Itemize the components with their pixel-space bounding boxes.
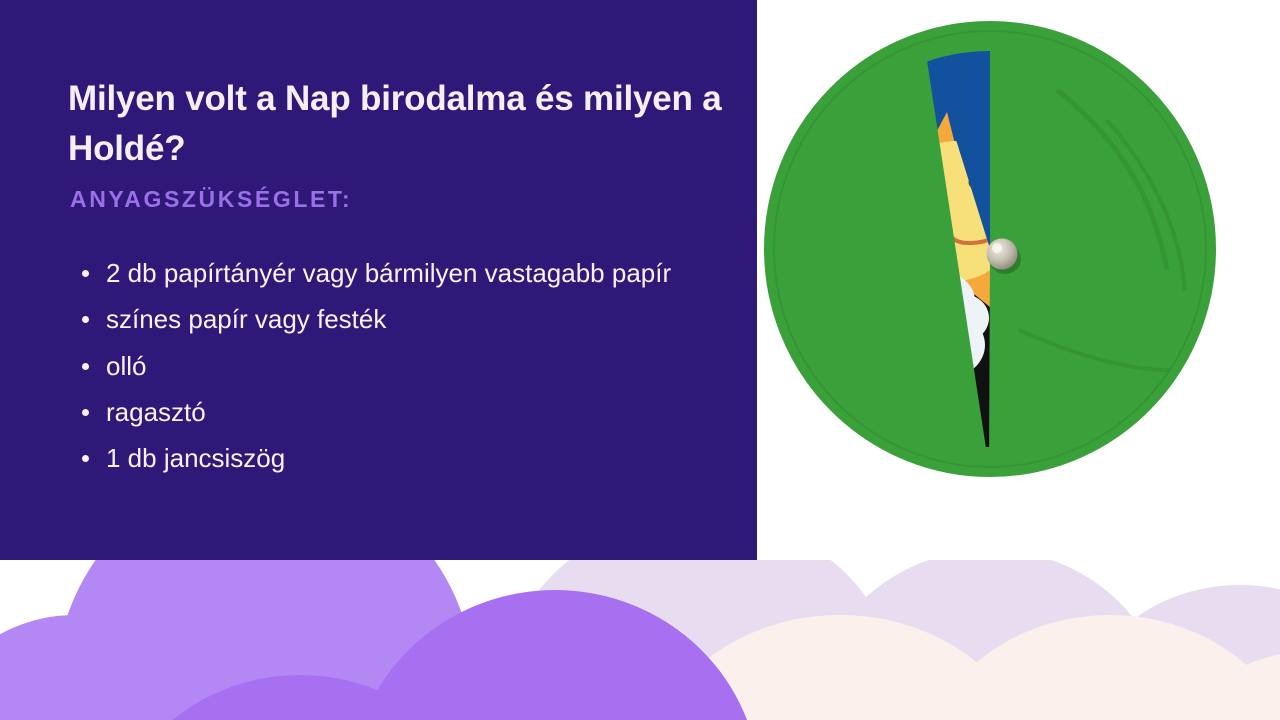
list-item-label: ragasztó — [106, 397, 206, 427]
craft-photo — [757, 0, 1280, 560]
bullet-icon — [82, 363, 89, 370]
list-item-label: 1 db jancsiszög — [106, 443, 285, 473]
cloud-purple-deep-1 — [350, 590, 760, 720]
brass-split-pin — [987, 239, 1018, 270]
cloud-lavender-3 — [1070, 585, 1280, 720]
list-item: 2 db papírtányér vagy bármilyen vastagab… — [78, 250, 678, 296]
paper-plate-craft-illustration — [757, 0, 1280, 560]
materials-list: 2 db papírtányér vagy bármilyen vastagab… — [78, 250, 678, 481]
list-item-label: 2 db papírtányér vagy bármilyen vastagab… — [106, 258, 671, 288]
cloud-lavender-2 — [815, 550, 1165, 720]
cloud-cream-3 — [1150, 650, 1280, 720]
bullet-icon — [82, 409, 89, 416]
pin-highlight — [992, 243, 1002, 253]
cloud-cream-2 — [915, 615, 1280, 720]
list-item: színes papír vagy festék — [78, 296, 678, 342]
materials-heading: ANYAGSZÜKSÉGLET: — [70, 186, 352, 213]
slide-canvas: Milyen volt a Nap birodalma és milyen a … — [0, 0, 1280, 720]
cloud-lavender-4 — [680, 625, 980, 720]
cloud-cream-4 — [510, 700, 810, 720]
list-item: olló — [78, 343, 678, 389]
cloud-purple-light-2 — [0, 615, 235, 720]
page-title: Milyen volt a Nap birodalma és milyen a … — [68, 74, 748, 173]
bullet-icon — [82, 455, 89, 462]
list-item-label: olló — [106, 351, 146, 381]
bullet-icon — [82, 270, 89, 277]
cloud-purple-deep-2 — [105, 675, 495, 720]
cloud-cream-1 — [640, 615, 1040, 720]
bullet-icon — [82, 316, 89, 323]
cloud-purple-light-3 — [360, 610, 670, 720]
list-item-label: színes papír vagy festék — [106, 304, 386, 334]
list-item: ragasztó — [78, 389, 678, 435]
list-item: 1 db jancsiszög — [78, 435, 678, 481]
